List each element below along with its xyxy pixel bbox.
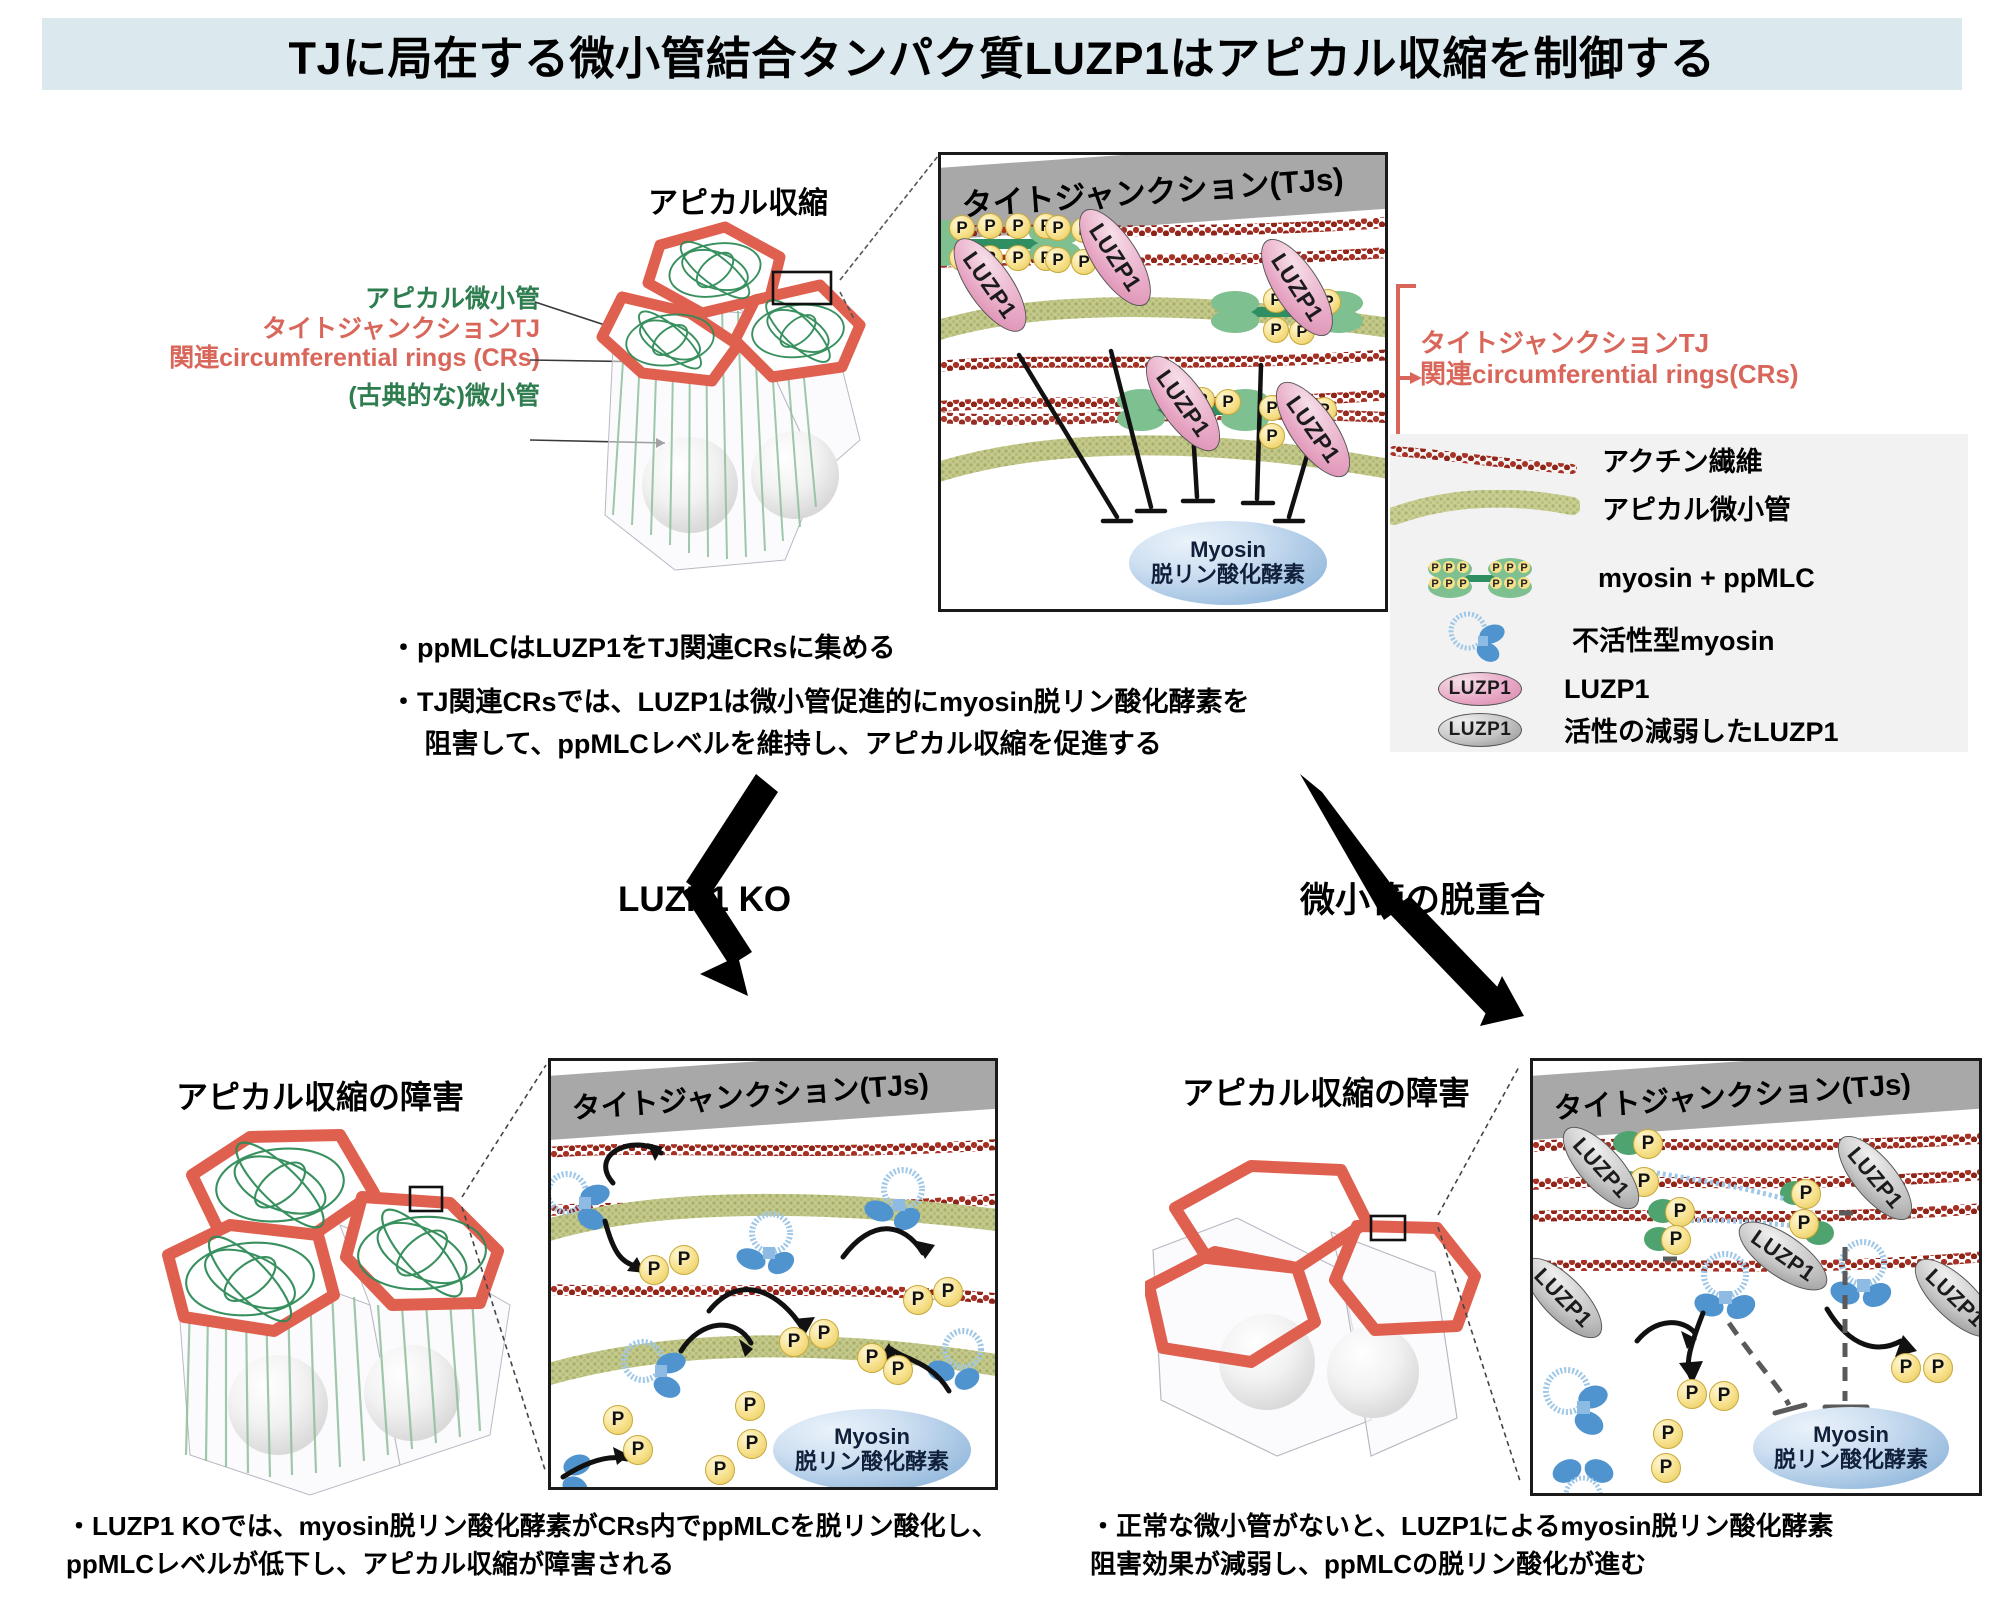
bracket-label-line1: タイトジャンクションTJ [1420, 328, 1799, 359]
label-circumferential-rings: 関連circumferential rings (CRs) [70, 344, 540, 374]
myosin-label-line2: 脱リン酸化酵素 [795, 1450, 949, 1475]
tj-detail-panel-normal: タイトジャンクション(TJs) [938, 152, 1388, 612]
svg-text:P: P [1445, 578, 1452, 590]
svg-text:P: P [1492, 562, 1499, 574]
myosin-phosphatase-ellipse: Myosin 脱リン酸化酵素 [1129, 521, 1327, 605]
myosin-label-line1: Myosin [1190, 538, 1266, 563]
callout-lines-top [830, 150, 950, 320]
caption-right-line2: 阻害効果が減弱し、ppMLCの脱リン酸化が進む [1090, 1546, 1834, 1584]
phospho-p-icon: P [735, 1391, 765, 1421]
phospho-p-icon: P [1259, 423, 1285, 449]
phospho-p-icon: P [1045, 215, 1071, 241]
cr-bracket-label-group: タイトジャンクションTJ 関連circumferential rings(CRs… [1420, 328, 1799, 390]
phospho-p-icon: P [1651, 1453, 1681, 1483]
phospho-p-icon: P [1653, 1419, 1683, 1449]
svg-text:P: P [1520, 562, 1527, 574]
bullet-2-line2: 阻害して、ppMLCレベルを維持し、アピカル収縮を促進する [390, 724, 1250, 766]
tj-detail-panel-mt-depolymerized: タイトジャンクション(TJs) [1530, 1058, 1982, 1496]
phospho-p-icon: P [669, 1245, 699, 1275]
phospho-p-icon: P [883, 1355, 913, 1385]
phospho-p-icon: P [1923, 1353, 1953, 1383]
label-apical-constriction: アピカル収縮 [648, 178, 828, 222]
branch-label-mt-depolymerization: 微小管の脱重合 [1300, 872, 1545, 923]
legend-item-microtubule: アピカル微小管 [1390, 488, 1791, 527]
label-classical-microtubule: (古典的な)微小管 [70, 382, 540, 412]
phospho-p-icon: P [1665, 1197, 1695, 1227]
caption-right-line1: ・正常な微小管がないと、LUZP1によるmyosin脱リン酸化酵素 [1090, 1508, 1834, 1546]
caption-bottom-left: ・LUZP1 KOでは、myosin脱リン酸化酵素がCRs内でppMLCを脱リン… [66, 1508, 998, 1583]
apical-microtubule-icon [1390, 490, 1580, 526]
middle-bullet-list: ・ppMLCはLUZP1をTJ関連CRsに集める ・TJ関連CRsでは、LUZP… [390, 628, 1250, 766]
legend-item-actin: アクチン繊維 [1390, 440, 1763, 479]
legend-box: アクチン繊維 アピカル微小管 P P P [1390, 434, 1968, 752]
legend-item-inactive-myosin: 不活性型myosin [1438, 610, 1775, 666]
svg-text:P: P [1506, 578, 1513, 590]
callout-lines-bottom-right [1420, 1055, 1540, 1485]
svg-text:P: P [1431, 578, 1438, 590]
tj-detail-panel-luzp1-ko: タイトジャンクション(TJs) [548, 1058, 998, 1490]
phospho-p-icon: P [1005, 213, 1031, 239]
bullet-1: ・ppMLCはLUZP1をTJ関連CRsに集める [390, 628, 1250, 670]
legend-label-inactive-myosin: 不活性型myosin [1572, 619, 1775, 658]
actin-filament-icon [1390, 443, 1580, 477]
label-impaired-apical-constriction-left: アピカル収縮の障害 [176, 1072, 464, 1118]
phospho-p-icon: P [705, 1455, 735, 1485]
phospho-p-icon: P [903, 1285, 933, 1315]
myosin-ppmlc-icon: P P P P P P P P P P P P [1422, 552, 1540, 604]
caption-left-line1: ・LUZP1 KOでは、myosin脱リン酸化酵素がCRs内でppMLCを脱リン… [66, 1508, 998, 1546]
legend-item-myosin-ppmlc: P P P P P P P P P P P P myosin + ppMLC [1422, 552, 1815, 604]
phospho-p-icon: P [737, 1429, 767, 1459]
phospho-p-icon: P [1215, 389, 1241, 415]
svg-text:P: P [1431, 562, 1438, 574]
myosin-label-line2: 脱リン酸化酵素 [1774, 1448, 1928, 1473]
myosin-phosphatase-ellipse: Myosin 脱リン酸化酵素 [773, 1409, 971, 1490]
svg-text:P: P [1445, 562, 1452, 574]
caption-left-line2: ppMLCレベルが低下し、アピカル収縮が障害される [66, 1546, 998, 1584]
label-apical-microtubule: アピカル微小管 [70, 285, 540, 315]
phospho-p-icon: P [603, 1405, 633, 1435]
svg-text:P: P [1506, 562, 1513, 574]
callout-lines-bottom-left [440, 1055, 560, 1475]
luzp1-pink-icon: LUZP1 [1438, 672, 1522, 706]
legend-label-luzp1: LUZP1 [1564, 674, 1650, 705]
legend-label-myosin-ppmlc: myosin + ppMLC [1598, 563, 1815, 594]
label-tight-junction-tj: タイトジャンクションTJ [70, 315, 540, 345]
page-title: TJに局在する微小管結合タンパク質LUZP1はアピカル収縮を制御する [288, 22, 1715, 87]
legend-label-microtubule: アピカル微小管 [1602, 488, 1791, 527]
phospho-p-icon: P [1661, 1225, 1691, 1255]
svg-text:P: P [1492, 578, 1499, 590]
phospho-p-icon: P [1791, 1179, 1821, 1209]
title-band: TJに局在する微小管結合タンパク質LUZP1はアピカル収縮を制御する [42, 18, 1962, 90]
branch-label-luzp1-ko: LUZP1 KO [618, 880, 791, 920]
top-left-annotation-group: アピカル微小管 タイトジャンクションTJ 関連circumferential r… [70, 285, 540, 411]
myosin-phosphatase-ellipse: Myosin 脱リン酸化酵素 [1753, 1407, 1949, 1489]
myosin-label-line1: Myosin [1813, 1423, 1889, 1448]
legend-item-weak-luzp1: LUZP1 活性の減弱したLUZP1 [1438, 710, 1839, 749]
phospho-p-icon: P [809, 1319, 839, 1349]
phospho-p-icon: P [1789, 1209, 1819, 1239]
phospho-p-icon: P [1263, 317, 1289, 343]
luzp1-gray-icon: LUZP1 [1438, 713, 1522, 747]
svg-text:P: P [1459, 562, 1466, 574]
bullet-2-line1: ・TJ関連CRsでは、LUZP1は微小管促進的にmyosin脱リン酸化酵素を [390, 682, 1250, 724]
phospho-p-icon: P [779, 1327, 809, 1357]
legend-label-weak-luzp1: 活性の減弱したLUZP1 [1564, 710, 1839, 749]
phospho-p-icon: P [1677, 1379, 1707, 1409]
phospho-p-icon: P [1045, 247, 1071, 273]
legend-label-actin: アクチン繊維 [1602, 440, 1763, 479]
bracket-label-line2: 関連circumferential rings(CRs) [1420, 359, 1799, 390]
svg-text:P: P [1459, 578, 1466, 590]
myosin-label-line2: 脱リン酸化酵素 [1151, 563, 1305, 588]
phospho-p-icon: P [1709, 1381, 1739, 1411]
phospho-p-icon: P [1633, 1129, 1663, 1159]
legend-item-luzp1: LUZP1 LUZP1 [1438, 672, 1650, 706]
phospho-p-icon: P [1891, 1353, 1921, 1383]
svg-text:P: P [1520, 578, 1527, 590]
phospho-p-icon: P [639, 1255, 669, 1285]
inactive-myosin-icon [1438, 610, 1528, 666]
phospho-p-icon: P [623, 1435, 653, 1465]
myosin-label-line1: Myosin [834, 1425, 910, 1450]
caption-bottom-right: ・正常な微小管がないと、LUZP1によるmyosin脱リン酸化酵素 阻害効果が減… [1090, 1508, 1834, 1583]
phospho-p-icon: P [1005, 245, 1031, 271]
phospho-p-icon: P [977, 213, 1003, 239]
phospho-p-icon: P [933, 1277, 963, 1307]
